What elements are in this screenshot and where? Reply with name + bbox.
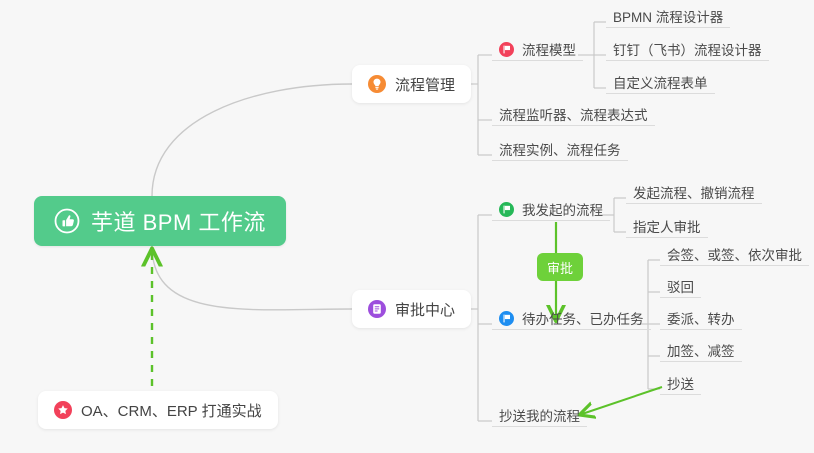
- node-process-model[interactable]: 流程模型: [492, 34, 583, 61]
- node-label-delegate-transfer: 委派、转办: [667, 313, 735, 327]
- node-label-my-initiated: 我发起的流程: [522, 204, 603, 218]
- thumbs-up-icon: [54, 208, 80, 234]
- node-custom-process-form[interactable]: 自定义流程表单: [606, 67, 715, 94]
- node-label-process-listener: 流程监听器、流程表达式: [499, 109, 648, 123]
- flag-blue-icon: [499, 311, 514, 326]
- node-assignee-approval[interactable]: 指定人审批: [626, 211, 708, 238]
- bottom-note-label: OA、CRM、ERP 打通实战: [81, 400, 262, 421]
- node-process-instance[interactable]: 流程实例、流程任务: [492, 134, 628, 161]
- node-delegate-transfer[interactable]: 委派、转办: [660, 303, 742, 330]
- node-label-process-instance: 流程实例、流程任务: [499, 144, 621, 158]
- branch-label-process-management: 流程管理: [395, 74, 455, 95]
- bottom-note-node[interactable]: OA、CRM、ERP 打通实战: [38, 391, 278, 429]
- approval-flow-tag-label: 审批: [547, 258, 573, 277]
- node-label-start-cancel-process: 发起流程、撤销流程: [633, 187, 755, 201]
- node-add-remove-sign[interactable]: 加签、减签: [660, 335, 742, 362]
- branch-label-approval-center: 审批中心: [395, 299, 455, 320]
- node-label-custom-process-form: 自定义流程表单: [613, 77, 708, 91]
- lightbulb-icon: [368, 75, 386, 93]
- node-cc[interactable]: 抄送: [660, 368, 701, 395]
- node-todo-done-tasks[interactable]: 待办任务、已办任务: [492, 303, 651, 330]
- node-dingtalk-feishu-designer[interactable]: 钉钉（飞书）流程设计器: [606, 34, 769, 61]
- node-label-todo-done-tasks: 待办任务、已办任务: [522, 313, 644, 327]
- node-bpmn-designer[interactable]: BPMN 流程设计器: [606, 1, 730, 28]
- root-node[interactable]: 芋道 BPM 工作流: [34, 196, 286, 246]
- root-label: 芋道 BPM 工作流: [91, 205, 266, 237]
- node-label-process-model: 流程模型: [522, 44, 576, 58]
- node-process-listener[interactable]: 流程监听器、流程表达式: [492, 99, 655, 126]
- node-label-add-remove-sign: 加签、减签: [667, 345, 735, 359]
- node-my-initiated[interactable]: 我发起的流程: [492, 194, 610, 221]
- node-start-cancel-process[interactable]: 发起流程、撤销流程: [626, 177, 762, 204]
- node-countersign[interactable]: 会签、或签、依次审批: [660, 239, 809, 266]
- approval-flow-tag: 审批: [537, 253, 583, 281]
- node-label-bpmn-designer: BPMN 流程设计器: [613, 11, 723, 25]
- mindmap-canvas: 芋道 BPM 工作流 流程管理 流程模型 BPMN 流程设计器 钉钉（飞书: [0, 0, 814, 453]
- branch-node-approval-center[interactable]: 审批中心: [352, 290, 471, 328]
- branch-node-process-management[interactable]: 流程管理: [352, 65, 471, 103]
- node-cc-to-me[interactable]: 抄送我的流程: [492, 400, 587, 427]
- star-icon: [54, 401, 72, 419]
- node-label-countersign: 会签、或签、依次审批: [667, 249, 802, 263]
- node-label-dingtalk-feishu-designer: 钉钉（飞书）流程设计器: [613, 44, 762, 58]
- flag-red-icon: [499, 42, 514, 57]
- flag-green-icon: [499, 202, 514, 217]
- node-label-cc: 抄送: [667, 378, 694, 392]
- node-label-cc-to-me: 抄送我的流程: [499, 410, 580, 424]
- doc-purple-icon: [368, 300, 386, 318]
- node-label-assignee-approval: 指定人审批: [633, 221, 701, 235]
- node-reject[interactable]: 驳回: [660, 271, 701, 298]
- node-label-reject: 驳回: [667, 281, 694, 295]
